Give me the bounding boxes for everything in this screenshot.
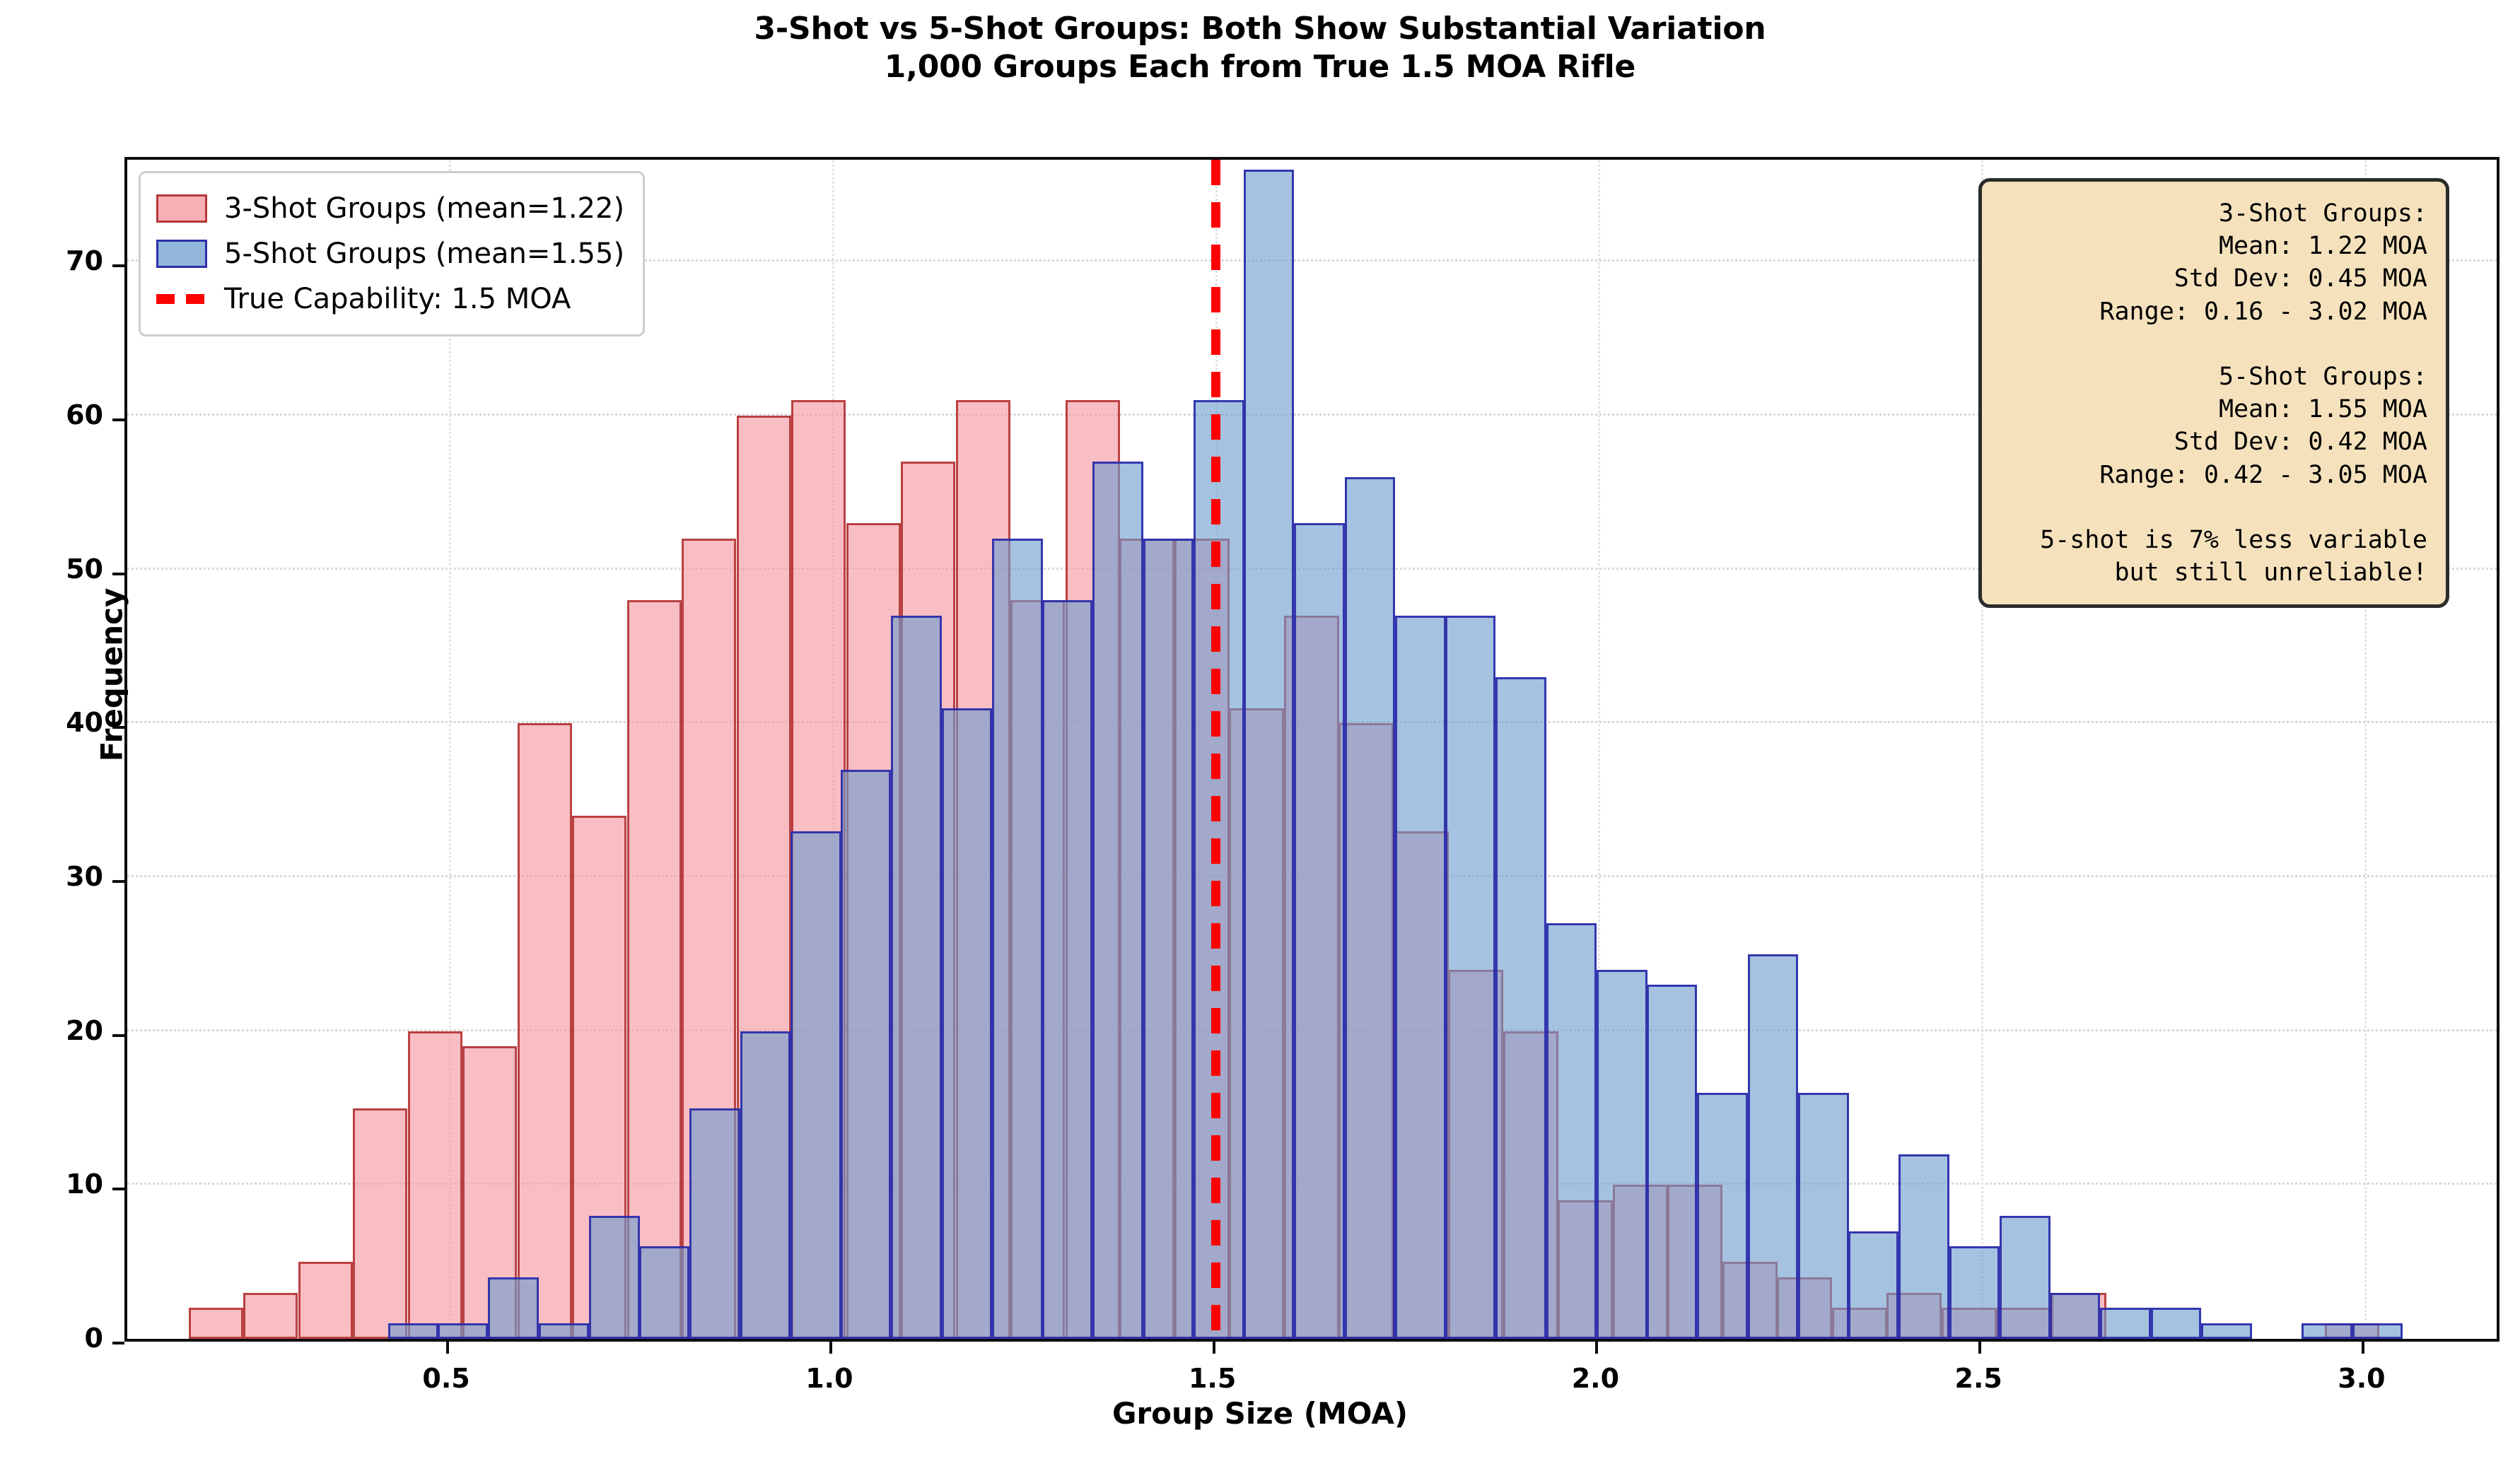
histogram-bar <box>891 616 941 1339</box>
histogram-bar <box>589 1216 639 1339</box>
histogram-bar <box>408 1031 462 1339</box>
histogram-bar <box>1546 923 1597 1339</box>
histogram-bar <box>1495 677 1546 1339</box>
y-tick-label: 10 <box>18 1168 103 1200</box>
legend-item-label: 3-Shot Groups (mean=1.22) <box>224 192 624 225</box>
y-tick-label: 30 <box>18 861 103 892</box>
histogram-bar <box>1092 462 1143 1339</box>
legend-item-label: 5-Shot Groups (mean=1.55) <box>224 238 624 270</box>
x-tick-label: 3.0 <box>2305 1363 2418 1394</box>
histogram-bar <box>353 1108 407 1339</box>
dashed-line-icon <box>156 294 207 304</box>
x-tick-mark <box>1978 1342 1981 1354</box>
histogram-bar <box>1848 1231 1898 1339</box>
histogram-bar <box>189 1308 243 1339</box>
x-tick-mark <box>2362 1342 2364 1354</box>
y-tick-label: 70 <box>18 245 103 276</box>
histogram-bar <box>1445 616 1495 1339</box>
legend[interactable]: 3-Shot Groups (mean=1.22)5-Shot Groups (… <box>139 171 645 336</box>
histogram-bar <box>2050 1293 2100 1339</box>
y-tick-mark <box>112 880 124 883</box>
histogram-bar <box>1898 1154 1949 1339</box>
x-axis-label: Group Size (MOA) <box>0 1396 2520 1431</box>
y-axis-label: Frequency <box>95 534 129 816</box>
histogram-bar <box>1294 523 1344 1339</box>
legend-item-true-capability[interactable]: True Capability: 1.5 MOA <box>156 276 624 322</box>
x-tick-label: 2.0 <box>1539 1363 1652 1394</box>
histogram-bar <box>1244 170 1294 1339</box>
x-tick-mark <box>1213 1342 1215 1354</box>
x-tick-mark <box>446 1342 449 1354</box>
histogram-bar <box>2352 1323 2403 1339</box>
color-swatch-icon <box>156 240 207 268</box>
color-swatch-icon <box>156 194 207 223</box>
y-tick-label: 50 <box>18 553 103 585</box>
chart-title-line-2: 1,000 Groups Each from True 1.5 MOA Rifl… <box>0 48 2520 86</box>
histogram-bar <box>2000 1216 2050 1339</box>
y-tick-mark <box>112 264 124 267</box>
histogram-bar <box>1647 985 1697 1339</box>
histogram-bar <box>1597 970 1647 1339</box>
x-tick-label: 1.0 <box>773 1363 886 1394</box>
histogram-bar <box>2151 1308 2201 1339</box>
x-tick-label: 2.5 <box>1922 1363 2035 1394</box>
histogram-bar <box>2201 1323 2251 1339</box>
histogram-bar <box>1748 954 1798 1339</box>
histogram-bar <box>689 1108 740 1339</box>
histogram-bar <box>2302 1323 2352 1339</box>
statistics-annotation-box: 3-Shot Groups: Mean: 1.22 MOA Std Dev: 0… <box>1978 178 2449 608</box>
histogram-bar <box>841 770 891 1339</box>
x-tick-label: 0.5 <box>390 1363 503 1394</box>
histogram-bar <box>243 1293 298 1339</box>
histogram-bar <box>2100 1308 2150 1339</box>
y-tick-mark <box>112 1342 124 1344</box>
legend-item-5shot[interactable]: 5-Shot Groups (mean=1.55) <box>156 231 624 276</box>
histogram-bar <box>488 1277 538 1339</box>
x-tick-mark <box>1595 1342 1598 1354</box>
y-tick-label: 60 <box>18 399 103 430</box>
histogram-bar <box>438 1323 488 1339</box>
histogram-bar <box>942 708 992 1339</box>
true-capability-line <box>1211 160 1220 1339</box>
histogram-bar <box>791 831 841 1339</box>
histogram-bar <box>518 723 572 1339</box>
legend-item-3shot[interactable]: 3-Shot Groups (mean=1.22) <box>156 186 624 231</box>
chart-title-line-1: 3-Shot vs 5-Shot Groups: Both Show Subst… <box>0 10 2520 48</box>
histogram-bar <box>1949 1246 2000 1339</box>
y-tick-mark <box>112 418 124 421</box>
legend-item-label: True Capability: 1.5 MOA <box>224 283 571 315</box>
x-tick-mark <box>829 1342 832 1354</box>
histogram-bar <box>298 1262 353 1339</box>
histogram-bar <box>639 1246 689 1339</box>
histogram-bar <box>1697 1093 1747 1339</box>
histogram-bar <box>539 1323 589 1339</box>
histogram-bar <box>1798 1093 1848 1339</box>
x-tick-label: 1.5 <box>1156 1363 1269 1394</box>
histogram-bar <box>388 1323 438 1339</box>
y-tick-label: 40 <box>18 707 103 738</box>
histogram-bar <box>1143 539 1194 1339</box>
y-tick-label: 20 <box>18 1015 103 1046</box>
y-tick-mark <box>112 1188 124 1190</box>
histogram-bar <box>740 1031 791 1339</box>
histogram-bar <box>1345 477 1395 1339</box>
histogram-bar <box>992 539 1042 1339</box>
histogram-bar <box>1395 616 1445 1339</box>
histogram-bar <box>1042 600 1092 1339</box>
chart-title: 3-Shot vs 5-Shot Groups: Both Show Subst… <box>0 10 2520 86</box>
y-tick-label: 0 <box>18 1323 103 1354</box>
y-tick-mark <box>112 1034 124 1037</box>
